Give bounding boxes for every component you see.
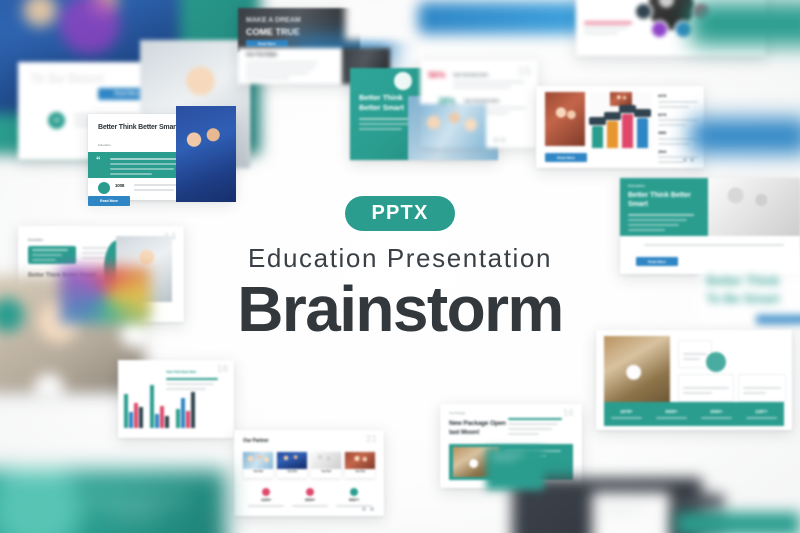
pager-dot[interactable]	[683, 158, 687, 162]
slide-number: 21	[366, 434, 377, 445]
hero-block: PPTX Education Presentation Brainstorm	[0, 196, 800, 344]
text-style-heading: Use Text Style	[246, 53, 277, 59]
desk-stat-value: 2000+	[694, 409, 739, 414]
hero-title: Brainstorm	[0, 275, 800, 344]
package-heading-line2: last Moon!	[449, 429, 480, 436]
partner-card-label: Your Text	[277, 469, 307, 474]
quote-stat-badge	[98, 182, 110, 194]
package-eyebrow: Our Package	[449, 412, 465, 415]
legend-value: 6478	[658, 94, 698, 99]
quote-heading: Better Think Better Smart	[98, 124, 188, 132]
slide-number: 15	[518, 64, 531, 78]
partner-stat-value: 5287+	[336, 498, 372, 503]
stat1-label: Your Text Goes Here	[453, 73, 488, 78]
quote-stat-value: 1008	[115, 183, 124, 188]
pager-dot[interactable]	[690, 158, 694, 162]
decor-teal-bar-bottom	[676, 512, 800, 533]
desk-stat-value: 1678+	[604, 409, 649, 414]
decor-teal-banner	[690, 2, 800, 46]
slide-number: 18	[217, 364, 228, 375]
slide-18-bar-chart: 18 Your Text Goes Here	[118, 360, 234, 438]
slide-heading: To Be Smart	[30, 70, 103, 85]
desk-stat-value: 1287+	[739, 409, 784, 414]
pager-dot[interactable]	[501, 138, 505, 142]
pager-dot[interactable]	[494, 138, 498, 142]
grad-eyebrow: Education	[628, 184, 645, 188]
slide-number: 16	[563, 408, 574, 419]
preview-canvas: To Be Smart Read More About Us 12 MAKE A…	[0, 0, 800, 533]
pptx-badge-label: PPTX	[371, 202, 428, 224]
dream-heading-line1: MAKE A DREAM	[246, 17, 301, 25]
partner-card-label: Your Text	[243, 469, 273, 474]
slide-desk-stats: 1678+ 3000+ 2000+ 1287+	[596, 330, 792, 430]
quote-subheading: Education	[98, 144, 111, 147]
bt-heading-line2: Better Smart	[359, 104, 404, 113]
stat-badge: 12	[48, 112, 65, 129]
stat1-value: 56%	[428, 70, 445, 80]
partner-heading: Our Partner	[243, 439, 269, 445]
pptx-badge: PPTX	[345, 196, 454, 231]
stat2-label: Your Text Goes Here	[464, 99, 499, 104]
quote-mark: “	[96, 155, 101, 165]
slide-readership-teal: A Readership Place For Your Dream	[0, 470, 226, 533]
photo-kids-team	[176, 106, 236, 202]
pager-dot[interactable]	[370, 507, 374, 511]
partner-card-label: Your Text	[311, 469, 341, 474]
slide-our-partner: 21 Our Partner Your Text Your Text Your …	[234, 430, 384, 516]
hero-subtitle: Education Presentation	[0, 245, 800, 271]
readership-heading-line2: Your Dream	[112, 510, 157, 519]
slide-colour-bar-chart: 6478 8278 3980 2544 Read More	[536, 86, 704, 168]
desk-stat-value: 3000+	[649, 409, 694, 414]
chart-read-more-button[interactable]: Read More	[545, 153, 587, 162]
partner-stat-value: 3000+	[292, 498, 328, 503]
slide-teal-card-bottom	[486, 448, 544, 490]
readership-heading-line1: A Readership Place For	[84, 494, 185, 504]
pager-dot[interactable]	[362, 507, 366, 511]
partner-stat-value: 1200+	[248, 498, 284, 503]
decor-blue-banner	[418, 2, 584, 34]
s18-heading: Your Text Goes Here	[166, 370, 196, 374]
dream-read-more-button[interactable]: Read More	[246, 40, 288, 47]
legend-value: 8278	[658, 113, 698, 118]
partner-card-label: Your Text	[345, 469, 375, 474]
decor-blue-blob-right	[690, 118, 800, 154]
package-heading-line1: New Package Open	[449, 420, 506, 427]
bt-heading-line1: Better Think	[359, 94, 403, 103]
slide-percent-stats: 15 56% Your Text Goes Here 28% Your Text…	[420, 60, 538, 148]
